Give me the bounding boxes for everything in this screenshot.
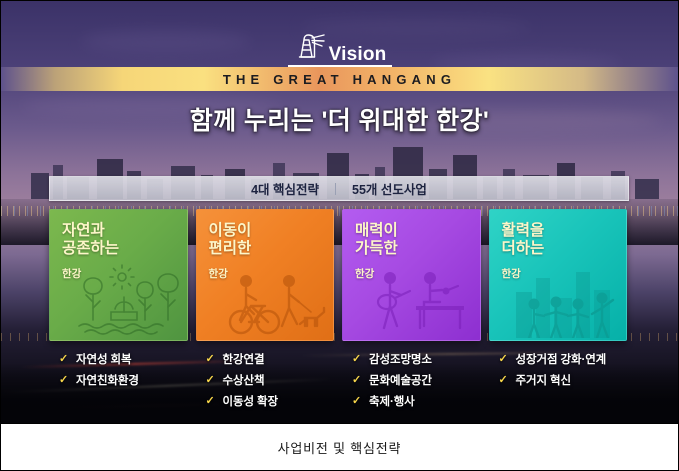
presentation-slide: Vision THE GREAT HANGANG 함께 누리는 '더 위대한 한… <box>0 0 679 471</box>
check-icon: ✓ <box>206 354 216 365</box>
list-item: ✓ 수상산책 <box>206 372 335 388</box>
bullet-label: 문화예술공간 <box>369 372 432 388</box>
card-title: 매력이 가득한 <box>355 222 398 259</box>
list-item: ✓ 문화예술공간 <box>352 372 481 388</box>
card-title: 활력을 더하는 <box>502 222 545 259</box>
list-item: ✓ 감성조망명소 <box>352 351 481 367</box>
check-icon: ✓ <box>206 375 216 386</box>
bullet-column-vitality: ✓ 성장거점 강화·연계 ✓ 주거지 혁신 <box>489 351 628 414</box>
banner-text: THE GREAT HANGANG <box>223 72 456 87</box>
vision-logo: Vision <box>1 29 678 66</box>
project-count-label: 55개 선도사업 <box>336 179 443 198</box>
strategy-card-mobility[interactable]: 이동이 편리한 한강 <box>196 209 335 341</box>
list-item: ✓ 자연성 회복 <box>59 351 188 367</box>
bullet-label: 성장거점 강화·연계 <box>516 351 607 367</box>
check-icon: ✓ <box>499 375 509 386</box>
nature-trees-fountain-icon <box>75 264 183 338</box>
cyclist-dogwalker-icon <box>221 264 329 338</box>
bullet-label: 자연성 회복 <box>76 351 132 367</box>
check-icon: ✓ <box>352 354 362 365</box>
list-item: ✓ 자연친화환경 <box>59 372 188 388</box>
bullet-column-attraction: ✓ 감성조망명소 ✓ 문화예술공간 ✓ 축제·행사 <box>342 351 481 414</box>
bullet-label: 주거지 혁신 <box>516 372 572 388</box>
people-city-icon <box>514 264 622 338</box>
caption-text: 사업비전 및 핵심전략 <box>278 438 402 457</box>
lighthouse-vision-icon <box>293 29 327 66</box>
gold-banner: THE GREAT HANGANG <box>1 67 678 91</box>
bullet-label: 한강연결 <box>223 351 265 367</box>
bullet-label: 축제·행사 <box>369 393 415 409</box>
list-item: ✓ 이동성 확장 <box>206 393 335 409</box>
list-item: ✓ 한강연결 <box>206 351 335 367</box>
figure-caption-bar: 사업비전 및 핵심전략 <box>1 423 678 470</box>
strategy-card-row: 자연과 공존하는 한강 <box>49 209 627 341</box>
list-item: ✓ 성장거점 강화·연계 <box>499 351 628 367</box>
strategy-card-vitality[interactable]: 활력을 더하는 한강 <box>489 209 628 341</box>
strategy-card-attraction[interactable]: 매력이 가득한 한강 <box>342 209 481 341</box>
check-icon: ✓ <box>206 396 216 407</box>
check-icon: ✓ <box>59 375 69 386</box>
page-title: 함께 누리는 '더 위대한 한강' <box>1 101 678 137</box>
bullet-label: 자연친화환경 <box>76 372 139 388</box>
strategy-count-label: 4대 핵심전략 <box>235 179 335 198</box>
strategy-card-nature[interactable]: 자연과 공존하는 한강 <box>49 209 188 341</box>
bullet-column-mobility: ✓ 한강연결 ✓ 수상산책 ✓ 이동성 확장 <box>196 351 335 414</box>
bullet-label: 이동성 확장 <box>223 393 279 409</box>
card-title: 자연과 공존하는 <box>62 222 119 259</box>
card-title: 이동이 편리한 <box>209 222 252 259</box>
check-icon: ✓ <box>352 396 362 407</box>
musicians-stage-icon <box>368 264 476 338</box>
check-icon: ✓ <box>499 354 509 365</box>
list-item: ✓ 주거지 혁신 <box>499 372 628 388</box>
bullet-row-group: ✓ 자연성 회복 ✓ 자연친화환경 ✓ 한강연결 ✓ 수상산책 ✓ 이동성 확장 <box>49 351 627 414</box>
check-icon: ✓ <box>59 354 69 365</box>
bullet-column-nature: ✓ 자연성 회복 ✓ 자연친화환경 <box>49 351 188 414</box>
list-item: ✓ 축제·행사 <box>352 393 481 409</box>
bullet-label: 감성조망명소 <box>369 351 432 367</box>
bullet-label: 수상산책 <box>223 372 265 388</box>
vision-logo-text: Vision <box>329 45 387 66</box>
check-icon: ✓ <box>352 375 362 386</box>
strategy-summary-bar: 4대 핵심전략 55개 선도사업 <box>49 176 629 201</box>
